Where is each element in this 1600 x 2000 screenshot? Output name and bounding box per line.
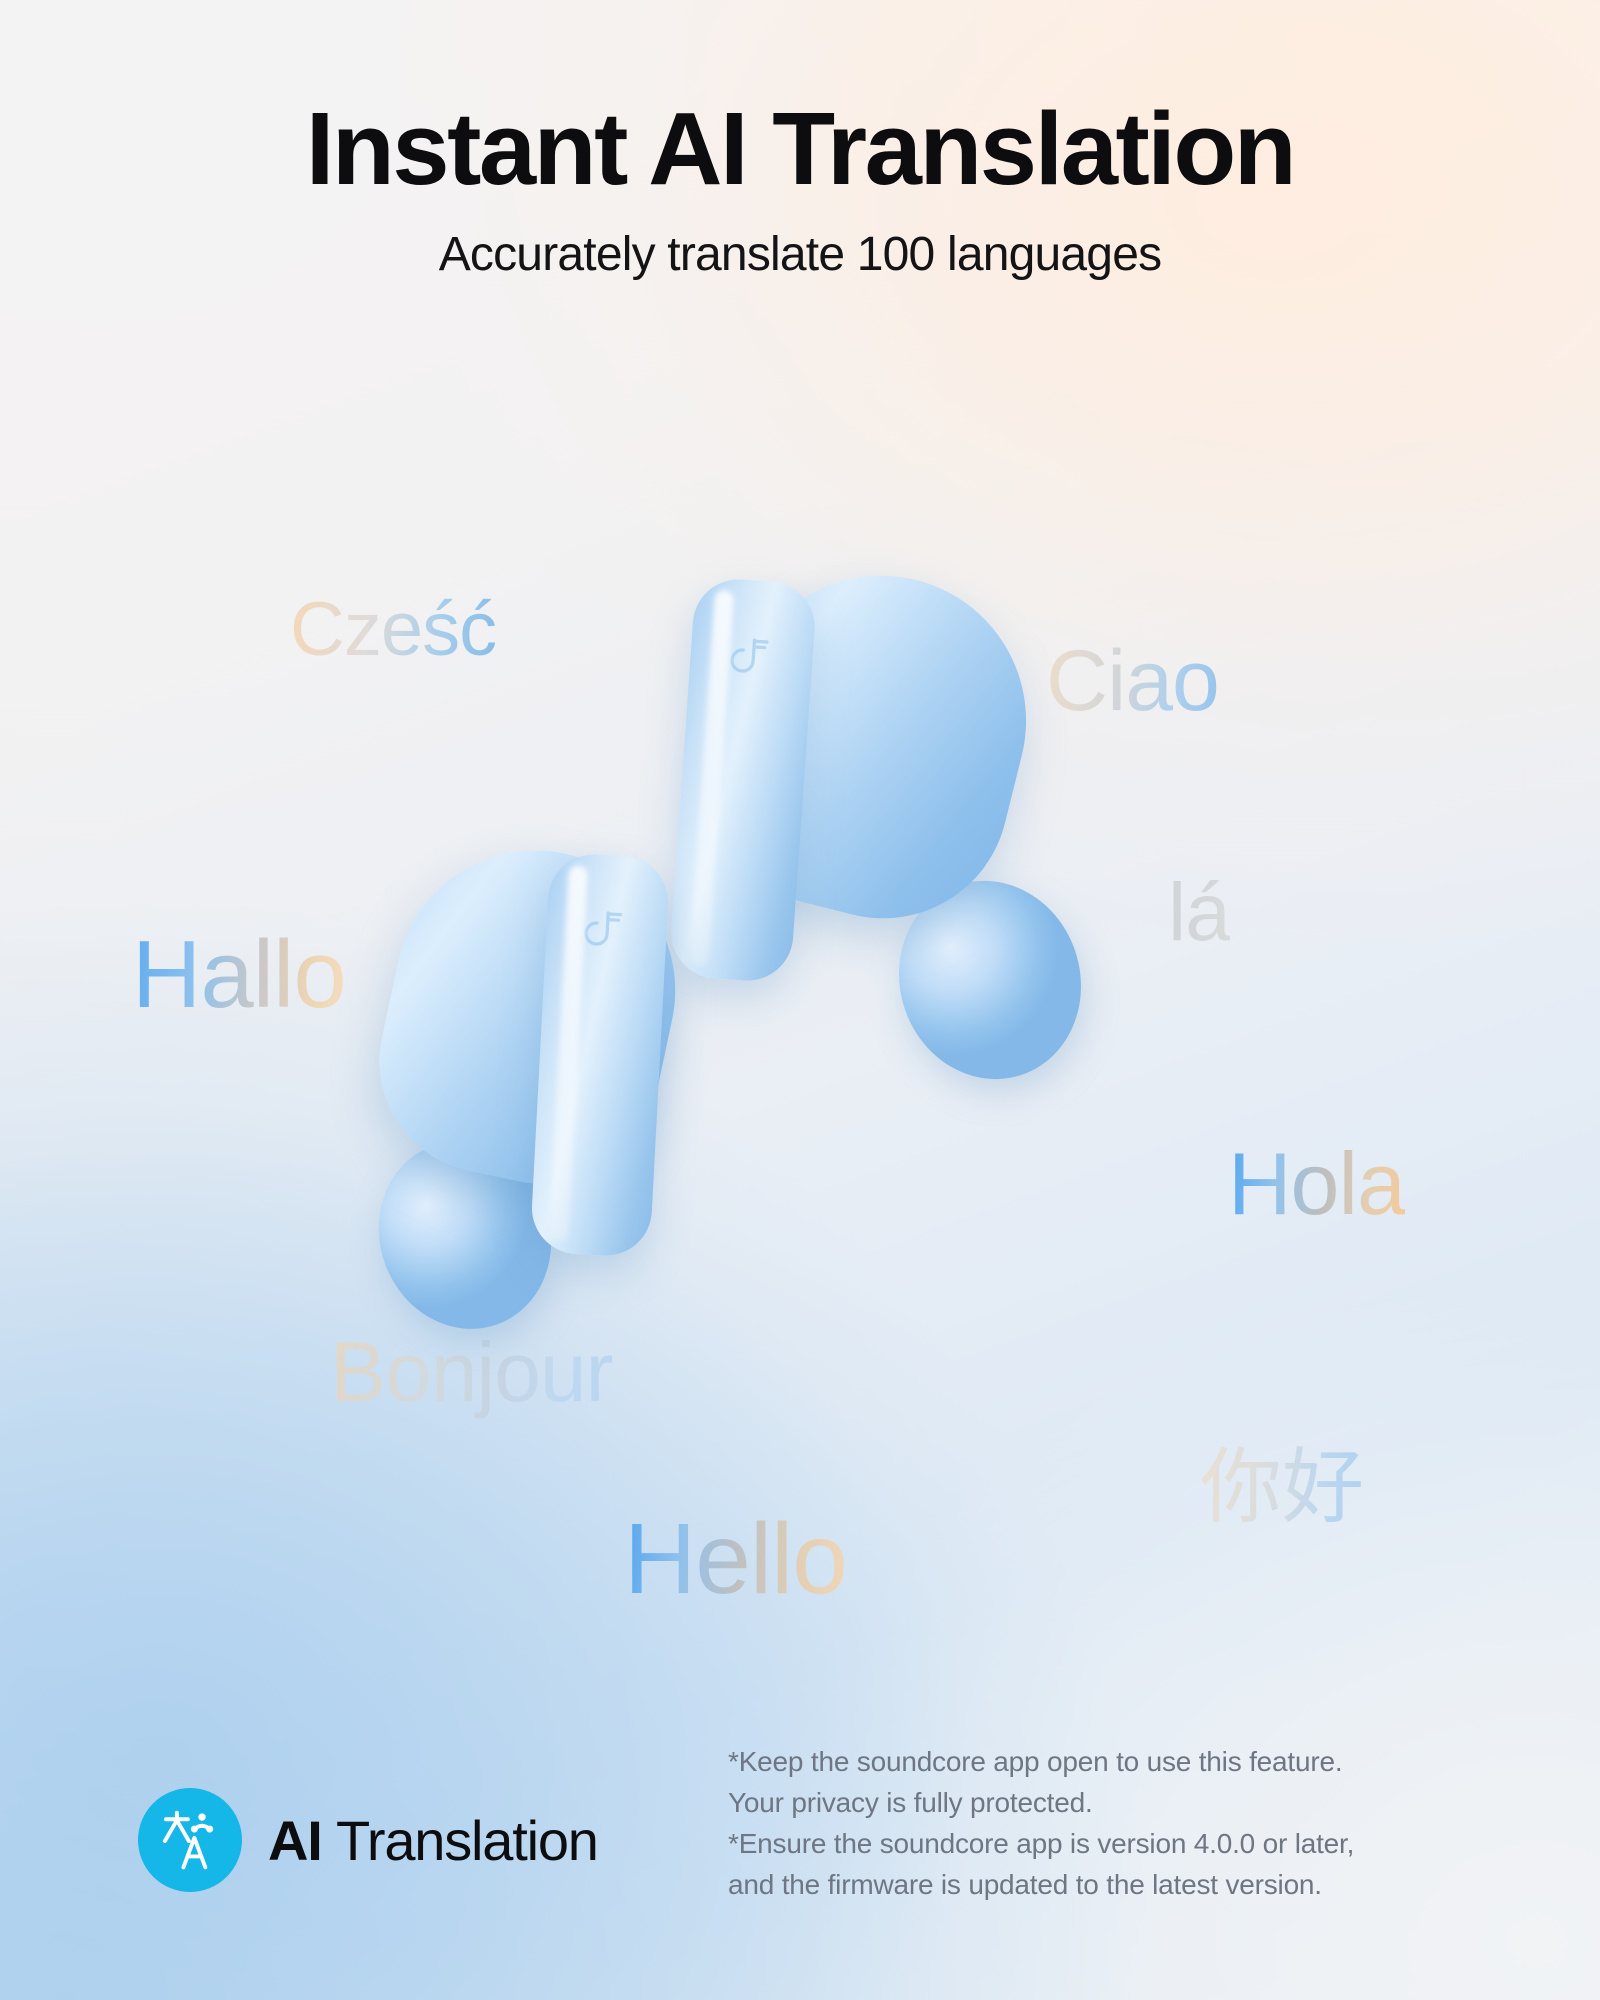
badge-label: AI Translation	[268, 1808, 598, 1873]
disclaimer-line-4: and the firmware is updated to the lates…	[728, 1865, 1354, 1906]
earbuds-product-image	[430, 700, 1230, 1530]
disclaimer-line-1: *Keep the soundcore app open to use this…	[728, 1742, 1354, 1783]
disclaimer-text: *Keep the soundcore app open to use this…	[728, 1742, 1354, 1906]
language-word-hello: Hello	[624, 1502, 847, 1617]
language-word-czesc: Cześć	[290, 586, 496, 673]
soundcore-logo-icon	[723, 632, 772, 681]
disclaimer-line-2: Your privacy is fully protected.	[728, 1783, 1354, 1824]
header: Instant AI Translation Accurately transl…	[0, 0, 1600, 282]
ai-translation-badge: AI Translation	[138, 1788, 598, 1892]
page-subtitle: Accurately translate 100 languages	[0, 227, 1600, 282]
badge-circle	[138, 1788, 242, 1892]
language-word-hola: Hola	[1228, 1133, 1405, 1235]
disclaimer-line-3: *Ensure the soundcore app is version 4.0…	[728, 1824, 1354, 1865]
product-feature-poster: Instant AI Translation Accurately transl…	[0, 0, 1600, 2000]
language-word-hallo: Hallo	[132, 920, 346, 1030]
page-title: Instant AI Translation	[0, 96, 1600, 201]
earbud-back-stem	[668, 576, 818, 984]
soundcore-logo-icon	[577, 906, 625, 954]
badge-label-translation: Translation	[336, 1809, 598, 1872]
language-word-nihao: 你好	[1200, 1420, 1364, 1539]
badge-label-ai: AI	[268, 1809, 322, 1872]
translate-icon	[155, 1805, 225, 1875]
earbud-front-stem	[530, 852, 671, 1258]
